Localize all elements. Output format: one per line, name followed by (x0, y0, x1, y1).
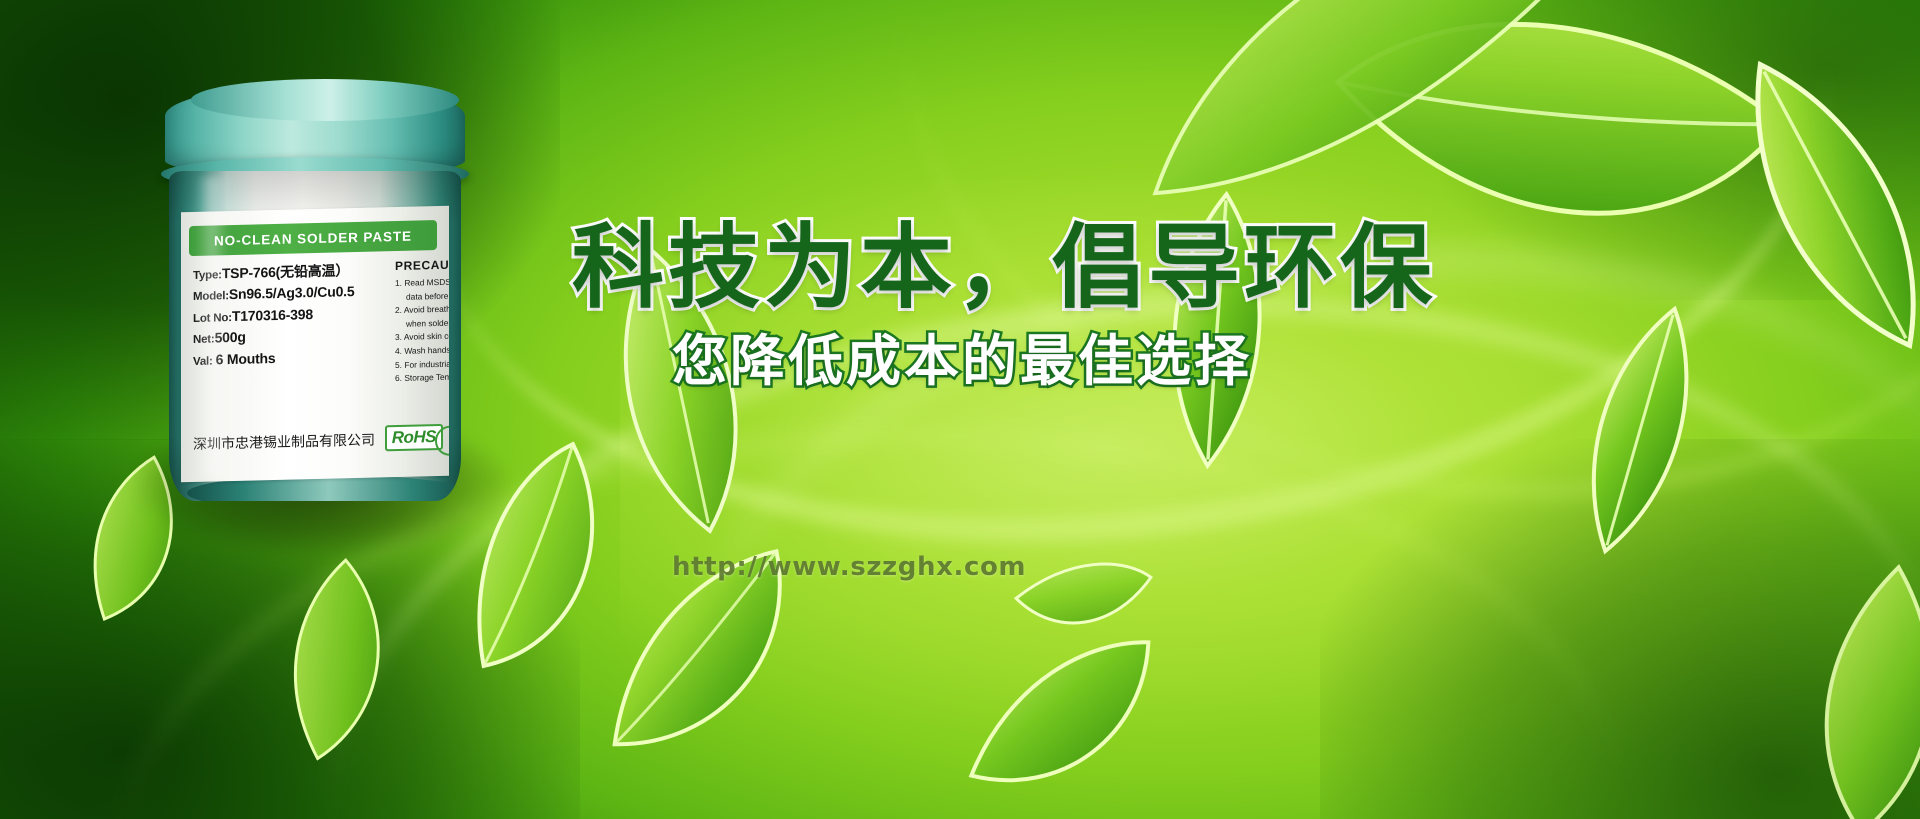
product-jar: NO-CLEAN SOLDER PASTE Type:TSP-766(无铅高温）… (155, 85, 485, 515)
jar-highlight (195, 177, 229, 477)
label-title-text: NO-CLEAN SOLDER PASTE (214, 228, 412, 248)
label-precautions: PRECAUTIONS 1. Read MSDS and data before… (395, 255, 449, 386)
precaution-number: 5. (395, 360, 402, 370)
headline-text: 科技为本，倡导环保 (572, 222, 1436, 314)
precaution-number: 6. (395, 373, 402, 383)
label-line-value: T170316-398 (232, 306, 313, 324)
subheadline-text: 您降低成本的最佳选择 (672, 334, 1252, 389)
promotional-banner: NO-CLEAN SOLDER PASTE Type:TSP-766(无铅高温）… (0, 0, 1920, 819)
precaution-item: 1. Read MSDS and (395, 273, 449, 290)
precaution-number: 4. (395, 346, 402, 356)
precaution-item: 6. Storage Temp (395, 369, 449, 386)
label-line-value: TSP-766(无铅高温） (222, 262, 349, 281)
precaution-text: For industrial use (404, 358, 449, 370)
precaution-text: Storage Temp (404, 372, 449, 383)
leaf-icon-bottom-center (952, 630, 1168, 810)
precautions-title: PRECAUTIONS (395, 255, 449, 273)
precaution-item: 3. Avoid skin contact (395, 328, 449, 345)
precaution-item: 2. Avoid breathing (395, 301, 449, 318)
precaution-text: Wash hands after (404, 344, 449, 356)
precaution-number: 3. (395, 332, 402, 342)
jar-lid-top (191, 79, 459, 121)
precaution-text: Read MSDS and (404, 276, 449, 288)
precaution-number: 2. (395, 305, 402, 315)
precaution-text: Avoid skin contact (404, 331, 449, 343)
label-line-value: Sn96.5/Ag3.0/Cu0.5 (229, 284, 355, 303)
website-url: http://www.szzghx.com (672, 552, 1026, 582)
precaution-text: Avoid breathing (404, 304, 449, 315)
precaution-item: 4. Wash hands after (395, 341, 449, 358)
precaution-number: 1. (395, 278, 402, 288)
